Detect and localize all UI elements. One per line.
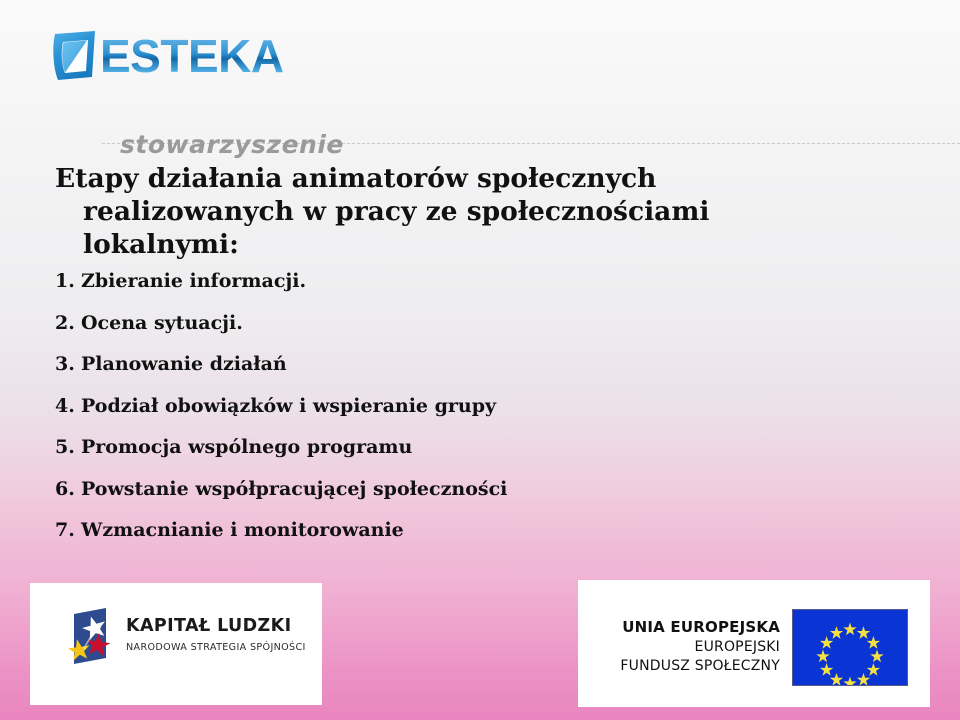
list-item: 2.Ocena sytuacji. — [55, 314, 855, 333]
list-item: 3.Planowanie działań — [55, 355, 855, 374]
list-item-label: Zbieranie informacji. — [81, 270, 306, 292]
unia-europejska-line-3: FUNDUSZ SPOŁECZNY — [620, 658, 780, 674]
kapital-ludzki-stars-emblem-icon — [66, 606, 112, 666]
unia-europejska-text-block: UNIA EUROPEJSKA EUROPEJSKI FUNDUSZ SPOŁE… — [602, 618, 792, 677]
kapital-ludzki-text-block: KAPITAŁ LUDZKI NARODOWA STRATEGIA SPÓJNO… — [126, 617, 322, 654]
title-line-1: Etapy działania animatorów społecznych — [55, 163, 656, 194]
brand-tagline: stowarzyszenie — [120, 130, 344, 159]
unia-europejska-lockup: UNIA EUROPEJSKA EUROPEJSKI FUNDUSZ SPOŁE… — [602, 609, 908, 686]
kapital-ludzki-title: KAPITAŁ LUDZKI — [126, 616, 292, 636]
list-item-number: 7. — [55, 521, 81, 540]
list-item-number: 5. — [55, 438, 81, 457]
esteka-wordmark: ESTEKA — [100, 30, 284, 82]
list-item: 4.Podział obowiązków i wspieranie grupy — [55, 397, 855, 416]
list-item-number: 3. — [55, 355, 81, 374]
list-item: 7.Wzmacnianie i monitorowanie — [55, 521, 855, 540]
list-item-label: Wzmacnianie i monitorowanie — [81, 519, 404, 541]
esteka-quadrilateral-mark-icon — [52, 30, 98, 82]
brand-header: ESTEKA stowarzyszenie — [50, 22, 930, 142]
list-item-number: 2. — [55, 314, 81, 333]
list-item-label: Podział obowiązków i wspieranie grupy — [81, 395, 496, 417]
kapital-ludzki-logo-box: KAPITAŁ LUDZKI NARODOWA STRATEGIA SPÓJNO… — [30, 583, 322, 705]
title-line-3: lokalnymi: — [55, 229, 815, 262]
title-line-2: realizowanych w pracy ze społecznościami — [55, 196, 815, 229]
unia-europejska-logo-box: UNIA EUROPEJSKA EUROPEJSKI FUNDUSZ SPOŁE… — [578, 580, 930, 707]
list-item-label: Ocena sytuacji. — [81, 312, 243, 334]
eu-flag-icon — [792, 609, 908, 686]
list-item-number: 1. — [55, 272, 81, 291]
unia-europejska-line-1: UNIA EUROPEJSKA — [622, 618, 780, 636]
list-item: 1.Zbieranie informacji. — [55, 272, 855, 291]
list-item-label: Powstanie współpracującej społeczności — [81, 478, 507, 500]
list-item: 6.Powstanie współpracującej społeczności — [55, 480, 855, 499]
kapital-ludzki-lockup: KAPITAŁ LUDZKI NARODOWA STRATEGIA SPÓJNO… — [66, 606, 322, 666]
page-title: Etapy działania animatorów społecznych r… — [55, 163, 815, 262]
slide-canvas: ESTEKA stowarzyszenie Etapy działania an… — [0, 0, 960, 720]
unia-europejska-line-2: EUROPEJSKI — [695, 639, 780, 655]
kapital-ludzki-subtitle: NARODOWA STRATEGIA SPÓJNOŚCI — [126, 642, 306, 653]
list-item-number: 6. — [55, 480, 81, 499]
list-item-label: Promocja wspólnego programu — [81, 436, 412, 458]
list-item-label: Planowanie działań — [81, 353, 287, 375]
esteka-logo: ESTEKA — [52, 30, 284, 82]
steps-list: 1.Zbieranie informacji. 2.Ocena sytuacji… — [55, 272, 855, 563]
list-item-number: 4. — [55, 397, 81, 416]
list-item: 5.Promocja wspólnego programu — [55, 438, 855, 457]
